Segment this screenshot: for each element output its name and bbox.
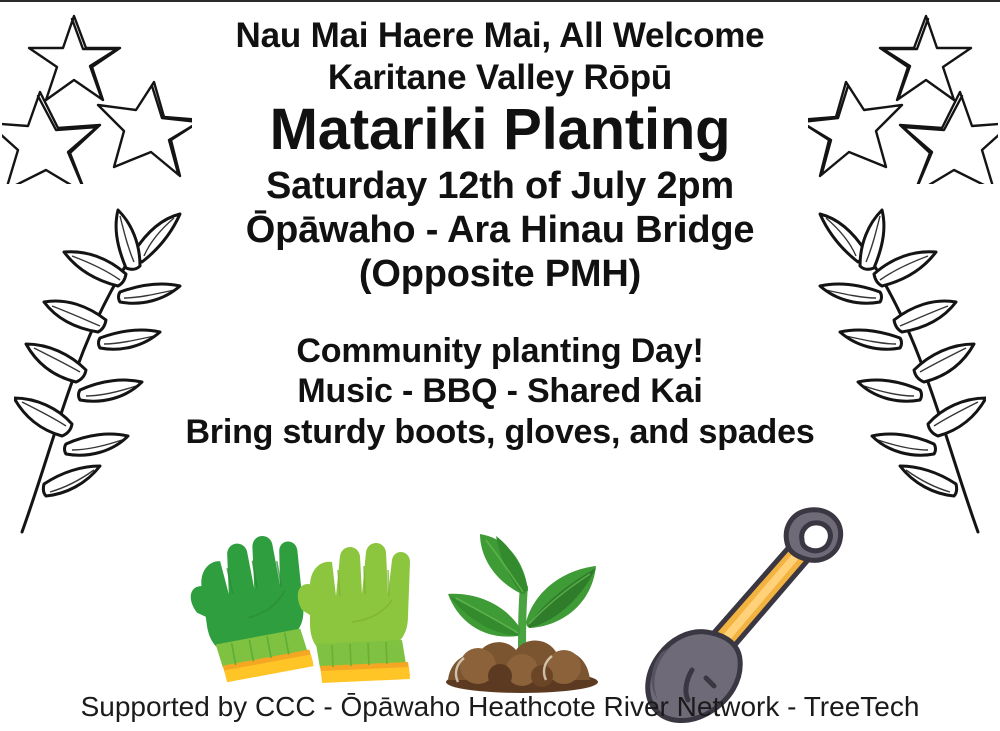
supporters-footer: Supported by CCC - Ōpāwaho Heathcote Riv… — [0, 691, 1000, 723]
bring-items-line: Bring sturdy boots, gloves, and spades — [0, 413, 1000, 452]
poster-canvas: Nau Mai Haere Mai, All Welcome Karitane … — [0, 0, 1000, 731]
location-note-line: (Opposite PMH) — [0, 253, 1000, 296]
activities-line: Music - BBQ - Shared Kai — [0, 372, 1000, 411]
community-line: Community planting Day! — [0, 332, 1000, 371]
group-name-line: Karitane Valley Rōpū — [0, 58, 1000, 98]
gardening-gloves-icon — [176, 536, 411, 696]
page-title: Matariki Planting — [0, 100, 1000, 161]
event-date-line: Saturday 12th of July 2pm — [0, 165, 1000, 208]
event-location-line: Ōpāwaho - Ara Hinau Bridge — [0, 209, 1000, 252]
poster-text-block: Nau Mai Haere Mai, All Welcome Karitane … — [0, 16, 1000, 452]
welcome-line: Nau Mai Haere Mai, All Welcome — [0, 16, 1000, 56]
text-spacer — [0, 298, 1000, 332]
seedling-in-soil-icon — [430, 524, 615, 699]
